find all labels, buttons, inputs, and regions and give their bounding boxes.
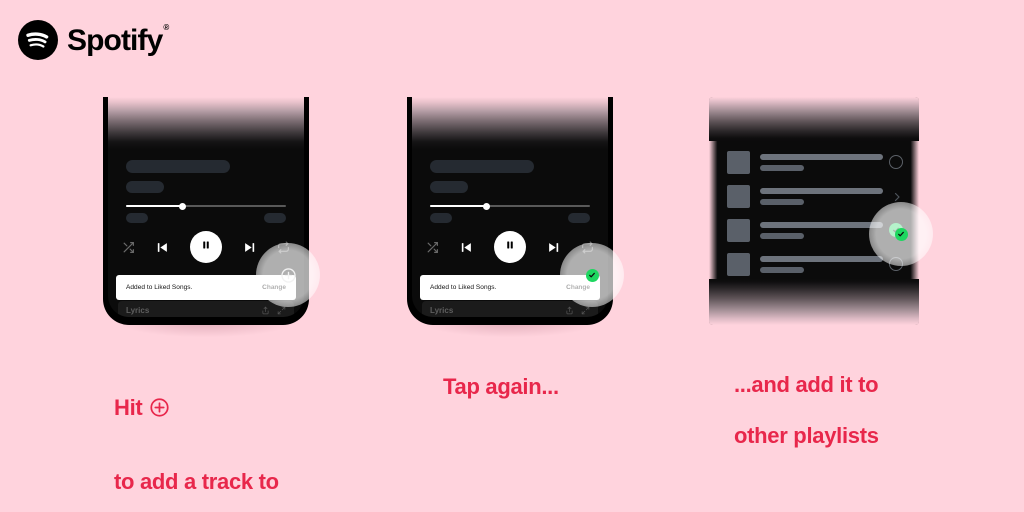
add-circle-icon — [149, 372, 170, 444]
caption-line-1: Tap again... — [443, 374, 559, 400]
shuffle-icon[interactable] — [122, 241, 135, 254]
toast-message: Added to Liked Songs. — [126, 284, 192, 291]
progress-fill — [430, 205, 486, 207]
panel-step-3 — [709, 97, 919, 325]
playlist-checkbox[interactable] — [889, 155, 903, 169]
track-title-placeholder — [430, 160, 534, 173]
playlist-meta-placeholder — [760, 165, 804, 171]
spotify-logo-icon — [18, 20, 58, 60]
tap-highlight-playlist[interactable] — [869, 202, 933, 266]
playlist-meta-placeholder — [760, 199, 804, 205]
track-title-placeholder — [126, 160, 230, 173]
circle-outline-icon — [889, 291, 903, 305]
share-icon[interactable] — [261, 306, 270, 315]
playlist-thumbnail — [727, 117, 750, 140]
playlist-meta-placeholder — [760, 301, 804, 307]
caption-line-1: ...and add it to — [734, 372, 879, 398]
playlist-name-placeholder — [760, 188, 883, 194]
panel-step-1: Lyrics Added to Liked Songs. Change — [103, 97, 309, 325]
lyrics-bar[interactable]: Lyrics — [422, 301, 598, 317]
pause-icon — [200, 238, 212, 256]
tap-highlight-add[interactable] — [256, 243, 320, 307]
pause-button[interactable] — [494, 231, 526, 263]
track-meta — [126, 160, 230, 193]
playlist-checkbox[interactable] — [889, 291, 903, 305]
top-gradient-fade — [108, 97, 304, 149]
list-item[interactable] — [709, 111, 919, 145]
caption-step-3: ...and add it to other playlists — [734, 346, 879, 474]
check-circle-icon — [889, 121, 903, 135]
share-icon[interactable] — [565, 306, 574, 315]
spotify-logo: Spotify® — [18, 20, 167, 60]
add-circle-icon — [280, 267, 297, 284]
skip-next-icon[interactable] — [546, 240, 561, 255]
progress-slider[interactable] — [126, 205, 286, 207]
check-circle-icon — [586, 269, 599, 282]
progress-knob[interactable] — [179, 203, 186, 210]
brand-name: Spotify® — [67, 26, 167, 56]
elapsed-time-placeholder — [126, 213, 148, 223]
skip-previous-icon[interactable] — [155, 240, 170, 255]
playlist-thumbnail — [727, 151, 750, 174]
lyrics-label: Lyrics — [430, 306, 453, 315]
lyrics-label: Lyrics — [126, 306, 149, 315]
playlist-meta-placeholder — [760, 131, 804, 137]
skip-next-icon[interactable] — [242, 240, 257, 255]
playlist-thumbnail — [727, 185, 750, 208]
playlist-name-placeholder — [760, 290, 883, 296]
chevron-right-icon[interactable] — [891, 190, 903, 202]
playlist-name-placeholder — [760, 222, 883, 228]
playlist-thumbnail — [727, 287, 750, 310]
pause-button[interactable] — [190, 231, 222, 263]
tap-highlight-added[interactable] — [560, 243, 624, 307]
lyrics-bar[interactable]: Lyrics — [118, 301, 294, 317]
caption-step-2: Tap again... — [443, 348, 559, 425]
caption-line-2: to add a track to — [114, 469, 279, 495]
playlist-name-placeholder — [760, 256, 883, 262]
playlist-thumbnail — [727, 219, 750, 242]
playlist-name-placeholder — [760, 154, 883, 160]
playlist-name-placeholder — [760, 120, 883, 126]
top-gradient-fade — [412, 97, 608, 149]
toast-message: Added to Liked Songs. — [430, 284, 496, 291]
playlist-meta-placeholder — [760, 233, 804, 239]
skip-previous-icon[interactable] — [459, 240, 474, 255]
remaining-time-placeholder — [264, 213, 286, 223]
progress-slider[interactable] — [430, 205, 590, 207]
playlist-meta-placeholder — [760, 267, 804, 273]
caption-step-1: Hit to add a track to Liked Songs — [114, 346, 279, 512]
caption-line-1: Hit — [114, 395, 142, 421]
progress-knob[interactable] — [483, 203, 490, 210]
track-meta — [430, 160, 534, 193]
remaining-time-placeholder — [568, 213, 590, 223]
track-artist-placeholder — [430, 181, 468, 193]
pause-icon — [504, 238, 516, 256]
track-artist-placeholder — [126, 181, 164, 193]
registered-mark: ® — [163, 23, 168, 32]
caption-line-2: other playlists — [734, 423, 879, 449]
panel-step-2: Lyrics Added to Liked Songs. Change — [407, 97, 613, 325]
list-item[interactable] — [709, 281, 919, 315]
elapsed-time-placeholder — [430, 213, 452, 223]
list-item[interactable] — [709, 145, 919, 179]
playlist-thumbnail — [727, 253, 750, 276]
check-circle-icon — [895, 228, 908, 241]
shuffle-icon[interactable] — [426, 241, 439, 254]
progress-fill — [126, 205, 182, 207]
circle-outline-icon — [889, 155, 903, 169]
playlist-checkbox[interactable] — [889, 121, 903, 135]
